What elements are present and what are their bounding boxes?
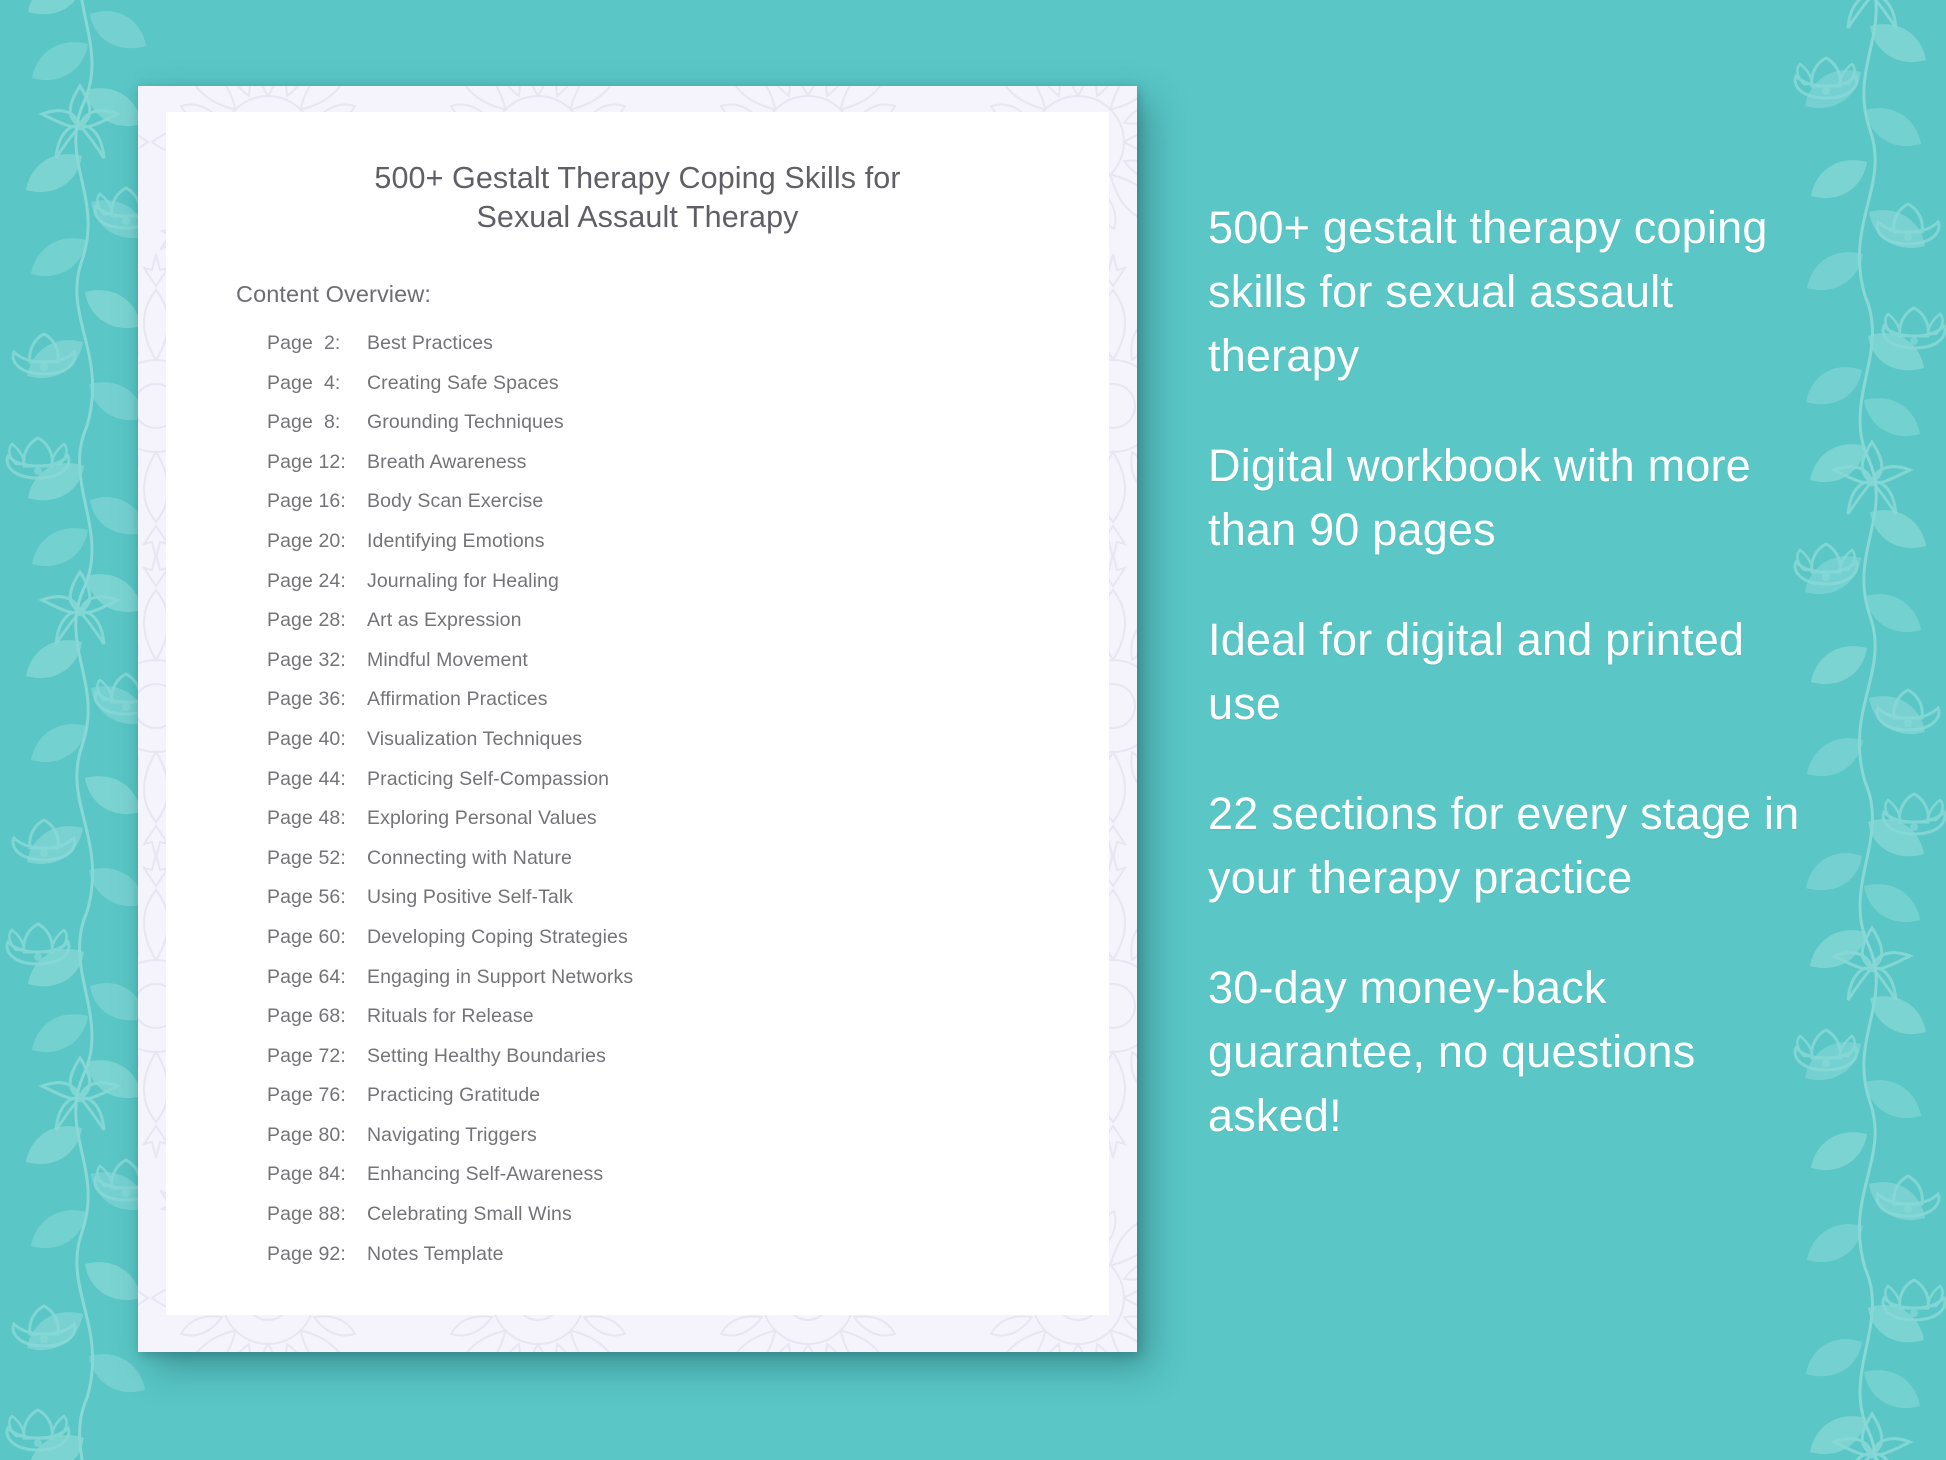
toc-entry: Page 72:Setting Healthy Boundaries <box>267 1045 1079 1085</box>
toc-entry-label: Rituals for Release <box>367 1005 534 1028</box>
marketing-blurb: 500+ gestalt therapy coping skills for s… <box>1208 196 1808 388</box>
toc-entry: Page 64:Engaging in Support Networks <box>267 966 1079 1006</box>
toc-entry: Page 60:Developing Coping Strategies <box>267 926 1079 966</box>
toc-entry-label: Affirmation Practices <box>367 688 548 711</box>
toc-entry: Page 76:Practicing Gratitude <box>267 1084 1079 1124</box>
toc-entry-label: Practicing Self-Compassion <box>367 768 609 791</box>
toc-entry-page: Page 48: <box>267 807 359 830</box>
toc-entry-page: Page 72: <box>267 1045 359 1068</box>
toc-entry: Page 52:Connecting with Nature <box>267 847 1079 887</box>
toc-entry: Page 88:Celebrating Small Wins <box>267 1203 1079 1243</box>
toc-entry-page: Page 28: <box>267 609 359 632</box>
toc-entry-label: Enhancing Self-Awareness <box>367 1163 603 1186</box>
promo-graphic: 500+ Gestalt Therapy Coping Skills for S… <box>0 0 1946 1460</box>
workbook-page-sheet: 500+ Gestalt Therapy Coping Skills for S… <box>166 112 1109 1315</box>
toc-entry: Page 32:Mindful Movement <box>267 649 1079 689</box>
toc-entry-label: Connecting with Nature <box>367 847 572 870</box>
page-title: 500+ Gestalt Therapy Coping Skills for S… <box>166 159 1109 237</box>
toc-entry-label: Using Positive Self-Talk <box>367 886 573 909</box>
toc-entry-label: Developing Coping Strategies <box>367 926 628 949</box>
toc-entry-page: Page 40: <box>267 728 359 751</box>
toc-entry-label: Art as Expression <box>367 609 522 632</box>
marketing-blurb: Ideal for digital and printed use <box>1208 608 1808 736</box>
toc-entry-label: Journaling for Healing <box>367 570 559 593</box>
toc-entry: Page 20:Identifying Emotions <box>267 530 1079 570</box>
toc-entry: Page 28:Art as Expression <box>267 609 1079 649</box>
toc-entry-page: Page 52: <box>267 847 359 870</box>
marketing-blurb: 30-day money-back guarantee, no question… <box>1208 956 1808 1148</box>
toc-entry: Page 80:Navigating Triggers <box>267 1124 1079 1164</box>
toc-entry-label: Identifying Emotions <box>367 530 545 553</box>
toc-entry: Page 92:Notes Template <box>267 1243 1079 1283</box>
content-overview-label: Content Overview: <box>236 281 431 308</box>
toc-entry: Page 68:Rituals for Release <box>267 1005 1079 1045</box>
toc-entry-label: Navigating Triggers <box>367 1124 537 1147</box>
marketing-copy-column: 500+ gestalt therapy coping skills for s… <box>1208 196 1808 1148</box>
toc-entry-page: Page 32: <box>267 649 359 672</box>
toc-entry: Page 2:Best Practices <box>267 332 1079 372</box>
toc-entry-page: Page 2: <box>267 332 359 355</box>
toc-entry: Page 36:Affirmation Practices <box>267 688 1079 728</box>
toc-entry-label: Breath Awareness <box>367 451 527 474</box>
toc-entry: Page 16:Body Scan Exercise <box>267 490 1079 530</box>
toc-entry-page: Page 36: <box>267 688 359 711</box>
toc-entry-label: Creating Safe Spaces <box>367 372 559 395</box>
toc-entry-page: Page 8: <box>267 411 359 434</box>
toc-entry-page: Page 4: <box>267 372 359 395</box>
toc-entry: Page 4:Creating Safe Spaces <box>267 372 1079 412</box>
toc-entry-page: Page 20: <box>267 530 359 553</box>
toc-entry-page: Page 12: <box>267 451 359 474</box>
toc-entry: Page 56:Using Positive Self-Talk <box>267 886 1079 926</box>
table-of-contents: Page 2:Best PracticesPage 4:Creating Saf… <box>267 332 1079 1282</box>
toc-entry-page: Page 80: <box>267 1124 359 1147</box>
toc-entry: Page 24:Journaling for Healing <box>267 570 1079 610</box>
toc-entry-page: Page 44: <box>267 768 359 791</box>
workbook-preview-card: 500+ Gestalt Therapy Coping Skills for S… <box>138 86 1137 1352</box>
toc-entry: Page 48:Exploring Personal Values <box>267 807 1079 847</box>
toc-entry-label: Engaging in Support Networks <box>367 966 633 989</box>
toc-entry-label: Setting Healthy Boundaries <box>367 1045 606 1068</box>
toc-entry: Page 84:Enhancing Self-Awareness <box>267 1163 1079 1203</box>
toc-entry: Page 8:Grounding Techniques <box>267 411 1079 451</box>
toc-entry-label: Visualization Techniques <box>367 728 582 751</box>
marketing-blurb: Digital workbook with more than 90 pages <box>1208 434 1808 562</box>
toc-entry: Page 40:Visualization Techniques <box>267 728 1079 768</box>
toc-entry-label: Celebrating Small Wins <box>367 1203 572 1226</box>
toc-entry-page: Page 24: <box>267 570 359 593</box>
toc-entry-label: Practicing Gratitude <box>367 1084 540 1107</box>
toc-entry-page: Page 56: <box>267 886 359 909</box>
toc-entry-page: Page 88: <box>267 1203 359 1226</box>
toc-entry-page: Page 84: <box>267 1163 359 1186</box>
toc-entry-label: Best Practices <box>367 332 493 355</box>
toc-entry-label: Grounding Techniques <box>367 411 564 434</box>
toc-entry-page: Page 60: <box>267 926 359 949</box>
toc-entry: Page 44:Practicing Self-Compassion <box>267 768 1079 808</box>
toc-entry-page: Page 16: <box>267 490 359 513</box>
toc-entry-page: Page 68: <box>267 1005 359 1028</box>
toc-entry-label: Notes Template <box>367 1243 504 1266</box>
toc-entry-label: Mindful Movement <box>367 649 528 672</box>
toc-entry: Page 12:Breath Awareness <box>267 451 1079 491</box>
toc-entry-page: Page 76: <box>267 1084 359 1107</box>
toc-entry-page: Page 64: <box>267 966 359 989</box>
toc-entry-label: Exploring Personal Values <box>367 807 597 830</box>
toc-entry-label: Body Scan Exercise <box>367 490 543 513</box>
marketing-blurb: 22 sections for every stage in your ther… <box>1208 782 1808 910</box>
toc-entry-page: Page 92: <box>267 1243 359 1266</box>
